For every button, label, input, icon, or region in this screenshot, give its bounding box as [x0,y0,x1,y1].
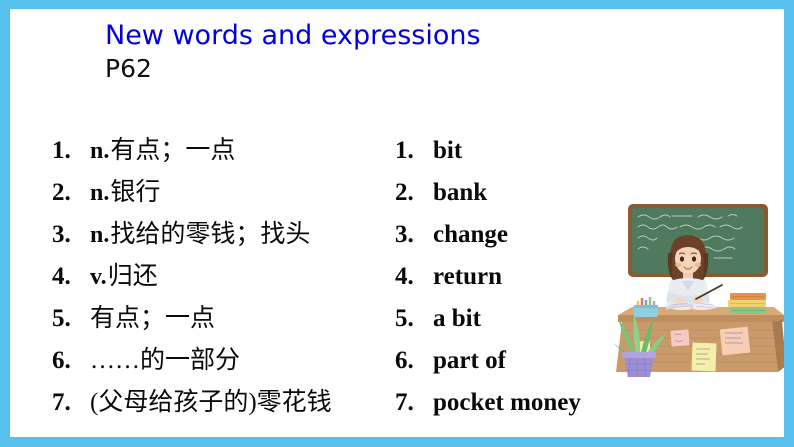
part-of-speech: v. [90,264,107,290]
part-of-speech: n. [90,138,109,164]
title-block: New words and expressions P62 [105,19,481,85]
chinese-entry-number: 4. [52,256,90,298]
english-entry: 4.return [395,256,502,301]
slide-content-panel: New words and expressions P62 1.n.有点；一点1… [10,9,784,437]
slide-canvas: New words and expressions P62 1.n.有点；一点1… [0,0,794,447]
chinese-entry-number: 5. [52,298,90,340]
chinese-entry: 7.(父母给孩子的)零花钱 [52,382,332,427]
english-word: part of [433,347,506,374]
english-entry: 3.change [395,214,508,259]
english-entry-number: 2. [395,172,433,214]
pencil-cup-icon [634,297,658,317]
stacked-books-icon [728,293,766,314]
chinese-entry-number: 6. [52,340,90,382]
english-entry-number: 4. [395,256,433,298]
part-of-speech: n. [90,180,109,206]
english-entry: 6.part of [395,340,506,385]
chinese-entry: 6.……的一部分 [52,340,240,385]
chinese-entry: 4.v.归还 [52,256,158,301]
chinese-meaning: 归还 [108,263,158,290]
vocabulary-row: 1.n.有点；一点1.bit [10,130,784,172]
page-title: New words and expressions [105,19,481,53]
chinese-meaning: 找给的零钱；找头 [110,221,310,248]
chinese-meaning: 有点；一点 [90,305,215,332]
chinese-entry: 1.n.有点；一点 [52,130,235,175]
english-word: bank [433,179,487,206]
english-entry: 7.pocket money [395,382,581,427]
page-reference: P62 [105,53,481,85]
english-word: a bit [433,305,481,332]
chinese-entry: 5.有点；一点 [52,298,215,343]
vocabulary-row: 7.(父母给孩子的)零花钱7.pocket money [10,382,784,424]
english-entry-number: 5. [395,298,433,340]
english-entry-number: 3. [395,214,433,256]
chinese-entry-number: 3. [52,214,90,256]
teacher-at-desk-illustration [610,197,784,382]
english-word: change [433,221,508,248]
chinese-meaning: (父母给孩子的)零花钱 [90,389,332,416]
english-entry-number: 7. [395,382,433,424]
english-entry: 1.bit [395,130,462,175]
chinese-meaning: ……的一部分 [90,347,240,374]
chinese-entry-number: 1. [52,130,90,172]
part-of-speech: n. [90,222,109,248]
chinese-entry-number: 2. [52,172,90,214]
english-entry: 5.a bit [395,298,481,343]
english-entry-number: 1. [395,130,433,172]
english-word: pocket money [433,389,581,416]
english-word: return [433,263,502,290]
chinese-entry: 3.n.找给的零钱；找头 [52,214,310,259]
chinese-entry-number: 7. [52,382,90,424]
chinese-meaning: 有点；一点 [110,137,235,164]
chinese-entry: 2.n.银行 [52,172,160,217]
english-entry-number: 6. [395,340,433,382]
chinese-meaning: 银行 [110,179,160,206]
english-word: bit [433,137,462,164]
english-entry: 2.bank [395,172,487,217]
